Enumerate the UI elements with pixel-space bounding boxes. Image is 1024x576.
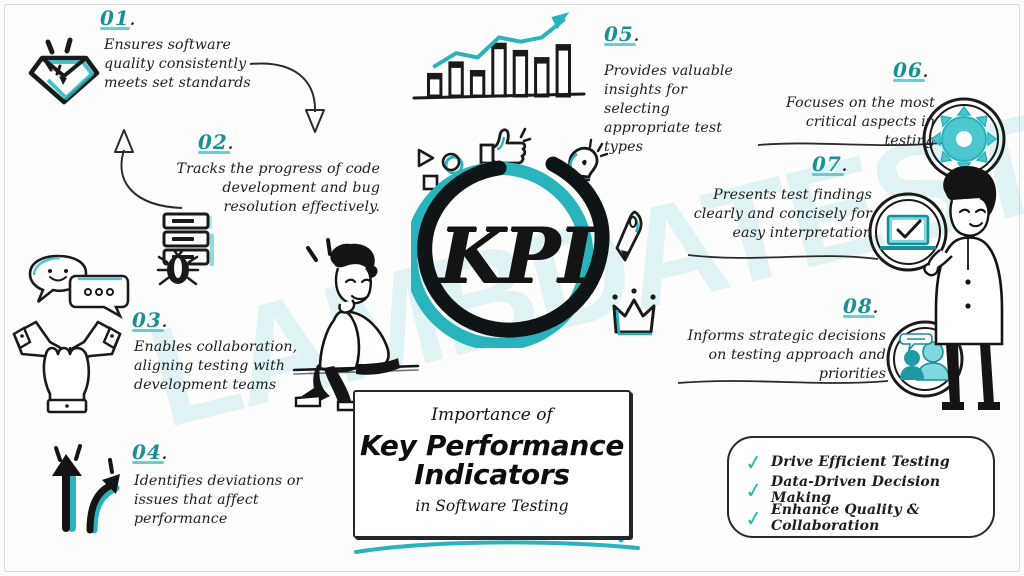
item-text-07: Presents test findings clearly and conci… (690, 186, 872, 243)
diamond-gem-icon (26, 28, 102, 108)
up-down-arrows-icon (50, 444, 134, 536)
check-icon: ✓ (744, 450, 773, 473)
underline-squiggle-07 (686, 250, 882, 269)
checklist-row: ✓ Drive Efficient Testing (745, 449, 993, 475)
checklist-row: ✓ Enhance Quality & Collaboration (745, 505, 993, 531)
checklist-row: ✓ Data-Driven Decision Making (745, 477, 993, 503)
title-eyebrow: Importance of (355, 405, 629, 425)
title-card-underline (352, 538, 642, 562)
infographic-canvas: LAMBDATEST 01. Ensures software quality … (0, 0, 1024, 576)
item-text-06: Focuses on the most critical aspects in … (760, 94, 935, 151)
item-text-01: Ensures software quality consistently me… (104, 36, 264, 93)
kpi-label: KPI (411, 218, 619, 294)
server-bug-icon (152, 208, 230, 292)
chat-bubbles-icon (24, 250, 132, 318)
person-presenting-illustration (928, 160, 1024, 410)
item-text-03: Enables collaboration, aligning testing … (134, 338, 309, 395)
item-number-03: 03. (132, 308, 168, 332)
title-subline: in Software Testing (355, 497, 629, 515)
checklist-label-1: Drive Efficient Testing (771, 454, 950, 470)
item-number-01: 01. (100, 6, 136, 30)
checklist-label-3: Enhance Quality & Collaboration (771, 502, 993, 534)
title-card: Importance of Key Performance Indicators… (353, 390, 631, 538)
item-number-02: 02. (198, 130, 234, 154)
item-number-07: 07. (812, 152, 848, 176)
item-number-04: 04. (132, 440, 168, 464)
person-thinking-illustration (290, 234, 420, 410)
item-number-06: 06. (893, 58, 929, 82)
item-text-08: Informs strategic decisions on testing a… (680, 327, 886, 384)
item-number-08: 08. (843, 294, 879, 318)
check-icon: ✓ (744, 506, 773, 529)
item-text-05: Provides valuable insights for selecting… (604, 62, 754, 157)
item-number-05: 05. (604, 22, 640, 46)
check-icon: ✓ (744, 478, 773, 501)
title-headline-1: Key Performance (355, 430, 629, 461)
bar-chart-growth-icon (412, 18, 590, 110)
title-headline-2: Indicators (355, 459, 629, 490)
item-text-04: Identifies deviations or issues that aff… (134, 472, 309, 529)
checklist-box: ✓ Drive Efficient Testing ✓ Data-Driven … (727, 436, 995, 538)
hands-teamwork-icon (8, 312, 126, 416)
